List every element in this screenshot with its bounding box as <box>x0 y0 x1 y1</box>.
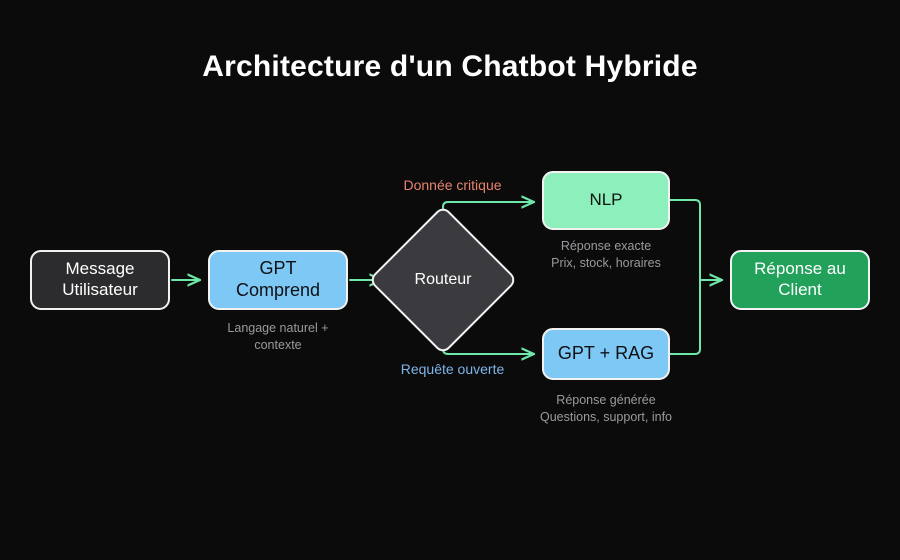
node-reponse-au-client-label: Réponse au Client <box>748 259 852 300</box>
edge-rag-to-bus <box>670 280 700 354</box>
node-gpt-comprend-label: GPT Comprend <box>230 258 326 302</box>
node-message-utilisateur-label: Message Utilisateur <box>56 259 144 300</box>
node-gpt-rag-label: GPT + RAG <box>552 343 660 365</box>
node-reponse-au-client[interactable]: Réponse au Client <box>730 250 870 310</box>
node-gpt-comprend[interactable]: GPT Comprend <box>208 250 348 310</box>
node-routeur-label: Routeur <box>390 227 496 333</box>
edge-label-donnee-critique: Donnée critique <box>365 177 540 193</box>
caption-nlp: Réponse exacte Prix, stock, horaires <box>516 238 696 273</box>
caption-gpt-comprend: Langage naturel + contexte <box>188 320 368 355</box>
caption-gpt-rag: Réponse générée Questions, support, info <box>516 392 696 427</box>
node-message-utilisateur[interactable]: Message Utilisateur <box>30 250 170 310</box>
node-nlp[interactable]: NLP <box>542 171 670 230</box>
node-gpt-rag[interactable]: GPT + RAG <box>542 328 670 380</box>
edge-label-requete-ouverte: Requête ouverte <box>365 361 540 377</box>
page-title: Architecture d'un Chatbot Hybride <box>0 50 900 84</box>
node-routeur[interactable]: Routeur <box>390 227 496 333</box>
node-nlp-label: NLP <box>583 190 628 211</box>
diagram-canvas: Architecture d'un Chatbot Hybride Mess <box>0 0 900 560</box>
